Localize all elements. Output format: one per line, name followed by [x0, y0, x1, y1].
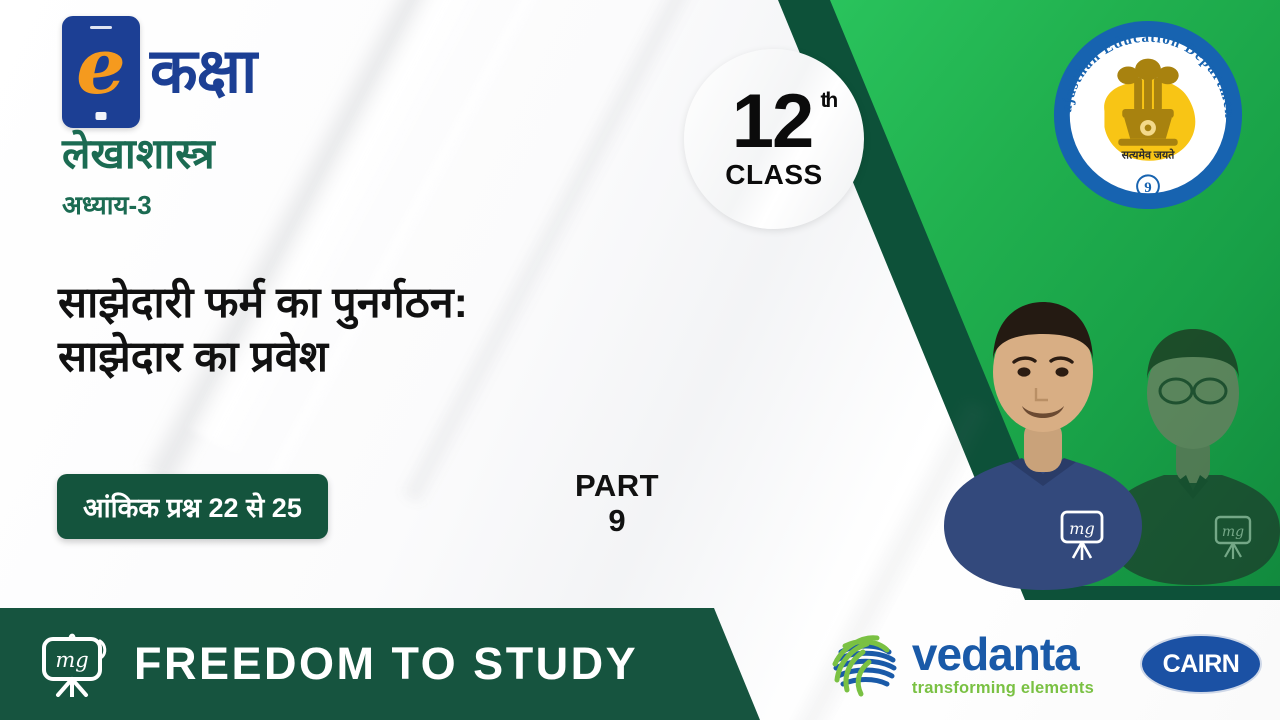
cairn-logo: CAIRN: [1140, 634, 1262, 694]
part-label: PART 9: [575, 470, 659, 538]
part-number: 9: [575, 503, 659, 539]
class-ordinal-suffix: th: [820, 91, 836, 110]
class-badge: 12th CLASS: [684, 49, 864, 229]
svg-text:9: 9: [1144, 180, 1151, 196]
brand-name-hindi: कक्षा: [150, 41, 256, 103]
class-number-value: 12: [732, 79, 813, 164]
rajasthan-education-department-emblem: सत्यमेव जयते Rajasthan Education Departm…: [1049, 16, 1247, 214]
vedanta-text: vedanta transforming elements: [912, 631, 1094, 697]
subject-heading: लेखाशास्त्र: [62, 133, 215, 175]
part-word: PART: [575, 470, 659, 503]
phone-screen: e: [72, 33, 130, 109]
class-number: 12th: [732, 87, 817, 157]
footer-slogan: FREEDOM TO STUDY: [134, 638, 638, 690]
instructor-front: mg: [936, 260, 1151, 605]
lesson-title-line2: साझेदार का प्रवेश: [58, 330, 758, 384]
cairn-name: CAIRN: [1163, 650, 1240, 679]
chapter-label: अध्याय-3: [62, 192, 152, 218]
svg-text:mg: mg: [55, 648, 88, 672]
svg-text:mg: mg: [1069, 519, 1094, 538]
emblem-motto: सत्यमेव जयते: [1121, 149, 1175, 162]
footer-bar: mg FREEDOM TO STUDY: [0, 608, 760, 720]
instructors-photo-group: mg mg: [930, 235, 1280, 605]
lesson-title: साझेदारी फर्म का पुनर्गठन: साझेदार का प्…: [58, 276, 758, 384]
svg-text:mg: mg: [1222, 524, 1244, 540]
brand-letter-e: e: [76, 28, 126, 106]
vedanta-name: vedanta: [912, 631, 1094, 677]
lesson-title-line1: साझेदारी फर्म का पुनर्गठन:: [58, 276, 758, 330]
phone-home-button: [96, 112, 107, 120]
vedanta-logo: vedanta transforming elements: [827, 626, 1094, 702]
sponsor-logos: vedanta transforming elements CAIRN: [827, 616, 1262, 712]
question-range-badge: आंकिक प्रश्न 22 से 25: [57, 474, 328, 539]
vedanta-globe-icon: [827, 626, 903, 702]
thumbnail-canvas: e कक्षा लेखाशास्त्र अध्याय-3 साझेदारी फर…: [0, 0, 1280, 720]
ekaksha-logo: e कक्षा: [62, 16, 256, 128]
smartphone-icon: e: [62, 16, 140, 128]
vedanta-tagline: transforming elements: [912, 680, 1094, 697]
chalkboard-mg-icon: mg: [36, 631, 112, 697]
